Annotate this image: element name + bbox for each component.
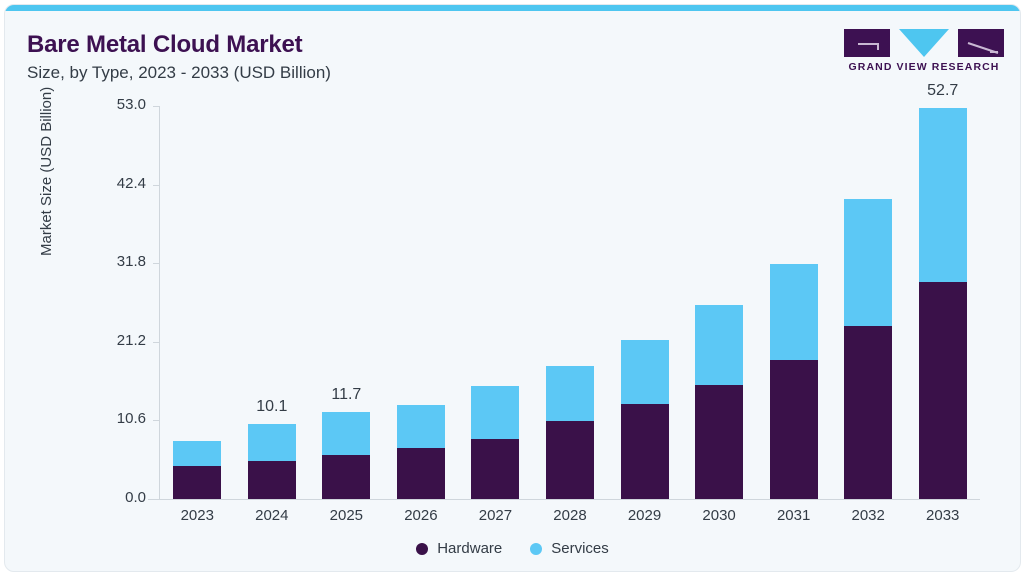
y-axis-tick-label: 10.6: [80, 410, 146, 427]
x-axis-tick-label: 2032: [851, 507, 884, 524]
bar-stack[interactable]: [695, 305, 743, 499]
bar-segment-hardware[interactable]: [248, 461, 296, 499]
y-axis-tick: [153, 185, 160, 186]
bar-segment-services[interactable]: [322, 412, 370, 455]
y-axis-tick: [153, 263, 160, 264]
bar-segment-services[interactable]: [248, 424, 296, 461]
bar-segment-services[interactable]: [397, 405, 445, 448]
bar-column[interactable]: 2029: [607, 106, 682, 499]
bar-segment-hardware[interactable]: [471, 439, 519, 499]
bar-stack[interactable]: [471, 386, 519, 499]
bar-segment-services[interactable]: [844, 199, 892, 325]
y-axis-title: Market Size (USD Billion): [38, 87, 55, 256]
page-subtitle: Size, by Type, 2023 - 2033 (USD Billion): [27, 63, 331, 83]
legend-label: Hardware: [437, 540, 502, 557]
bar-segment-hardware[interactable]: [173, 466, 221, 499]
bar-segment-hardware[interactable]: [546, 421, 594, 499]
x-axis-tick-label: 2029: [628, 507, 661, 524]
chart-plot-area: Market Size (USD Billion) 0.010.621.231.…: [160, 106, 980, 499]
bar-segment-hardware[interactable]: [770, 360, 818, 499]
bar-value-label: 52.7: [927, 82, 958, 100]
bar-stack[interactable]: [397, 405, 445, 499]
v-triangle-icon: [899, 29, 949, 57]
x-axis-tick-label: 2030: [702, 507, 735, 524]
bar-segment-hardware[interactable]: [397, 448, 445, 499]
bar-column[interactable]: 2030: [682, 106, 757, 499]
chart-legend: HardwareServices: [5, 540, 1020, 557]
bar-value-label: 11.7: [331, 386, 361, 404]
chart-card: Bare Metal Cloud Market Size, by Type, 2…: [4, 4, 1021, 572]
bar-segment-hardware[interactable]: [695, 385, 743, 499]
r-block-icon: [958, 29, 1004, 57]
y-axis-tick-label: 53.0: [80, 96, 146, 113]
bar-segment-hardware[interactable]: [621, 404, 669, 499]
y-axis-tick-label: 31.8: [80, 253, 146, 270]
bar-stack[interactable]: [770, 264, 818, 499]
x-axis-tick-label: 2025: [330, 507, 363, 524]
x-axis-tick-label: 2026: [404, 507, 437, 524]
bar-stack[interactable]: [621, 340, 669, 499]
bar-segment-services[interactable]: [621, 340, 669, 405]
bar-column[interactable]: 2023: [160, 106, 235, 499]
bar-column[interactable]: 2026: [384, 106, 459, 499]
y-axis-tick: [153, 420, 160, 421]
bar-segment-hardware[interactable]: [919, 282, 967, 499]
bar-stack[interactable]: [248, 424, 296, 499]
y-axis-tick: [153, 106, 160, 107]
x-axis-tick-label: 2023: [181, 507, 214, 524]
x-axis-line: [148, 499, 980, 500]
bar-column[interactable]: 2027: [458, 106, 533, 499]
logo-marks: [844, 27, 1004, 59]
x-axis-tick-label: 2024: [255, 507, 288, 524]
bar-value-label: 10.1: [256, 398, 287, 416]
bar-segment-hardware[interactable]: [844, 326, 892, 500]
y-axis-tick-label: 42.4: [80, 175, 146, 192]
accent-bar: [5, 5, 1020, 11]
bar-column[interactable]: 2032: [831, 106, 906, 499]
x-axis-tick-label: 2033: [926, 507, 959, 524]
legend-swatch-icon: [530, 543, 542, 555]
bar-segment-services[interactable]: [546, 366, 594, 422]
bar-column[interactable]: 10.12024: [235, 106, 310, 499]
legend-swatch-icon: [416, 543, 428, 555]
bar-segment-hardware[interactable]: [322, 455, 370, 499]
bar-segment-services[interactable]: [173, 441, 221, 466]
bar-segment-services[interactable]: [919, 108, 967, 282]
bar-stack[interactable]: [844, 199, 892, 499]
page-title: Bare Metal Cloud Market: [27, 31, 302, 59]
bar-column[interactable]: 52.72033: [905, 106, 980, 499]
x-axis-tick-label: 2028: [553, 507, 586, 524]
legend-item[interactable]: Services: [530, 540, 609, 557]
bar-stack[interactable]: [173, 441, 221, 499]
y-axis-tick-label: 0.0: [80, 489, 146, 506]
legend-label: Services: [551, 540, 609, 557]
g-block-icon: [844, 29, 890, 57]
bar-segment-services[interactable]: [695, 305, 743, 385]
logo-text: GRAND VIEW RESEARCH: [844, 61, 1004, 73]
bar-column[interactable]: 2031: [756, 106, 831, 499]
legend-item[interactable]: Hardware: [416, 540, 502, 557]
bar-column[interactable]: 11.72025: [309, 106, 384, 499]
y-axis-tick: [153, 499, 160, 500]
y-axis-tick-label: 21.2: [80, 332, 146, 349]
y-axis-tick: [153, 342, 160, 343]
bar-stack[interactable]: [546, 366, 594, 499]
brand-logo: GRAND VIEW RESEARCH: [844, 27, 1004, 79]
bar-segment-services[interactable]: [471, 386, 519, 439]
bar-column[interactable]: 2028: [533, 106, 608, 499]
bar-stack[interactable]: [322, 412, 370, 499]
bar-segment-services[interactable]: [770, 264, 818, 360]
x-axis-tick-label: 2027: [479, 507, 512, 524]
x-axis-tick-label: 2031: [777, 507, 810, 524]
bar-stack[interactable]: [919, 108, 967, 499]
